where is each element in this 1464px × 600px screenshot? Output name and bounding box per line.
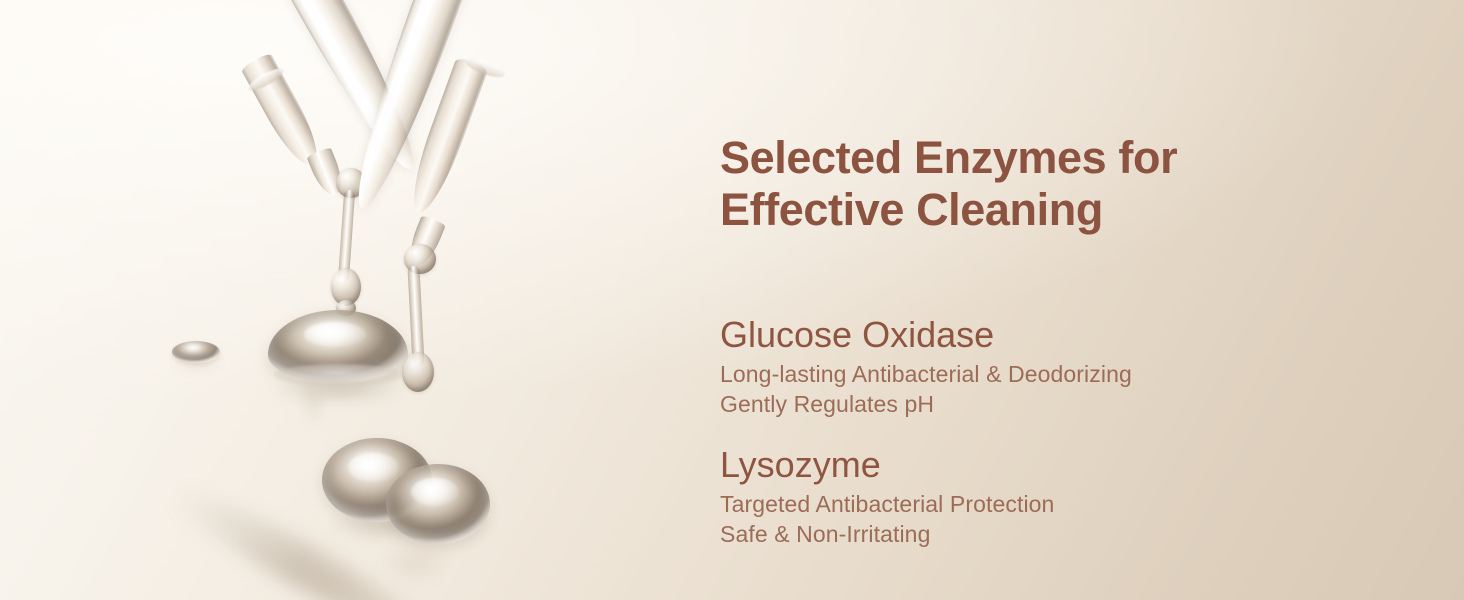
pipette-right	[340, 0, 506, 216]
merged-droplet-right	[386, 464, 490, 544]
dome-droplet-shadow	[268, 378, 408, 404]
feature-title-lysozyme: Lysozyme	[720, 446, 1054, 484]
pipette-left-meniscus	[246, 65, 286, 94]
pipette-right-tip	[404, 215, 446, 269]
small-droplet	[172, 341, 220, 363]
pipette-left-liquid	[240, 52, 328, 173]
feature-glucose-oxidase: Glucose Oxidase Long-lasting Antibacteri…	[720, 316, 1132, 420]
falling-droplet-left	[331, 268, 361, 306]
merged-droplets-reflection	[380, 538, 450, 586]
surface-shadow-streak	[159, 473, 443, 600]
pipette-right-meniscus	[463, 55, 507, 81]
pipette-left-tip-bead	[336, 168, 366, 198]
text-content: Selected Enzymes for Effective Cleaning …	[720, 0, 1280, 600]
feature-benefit-line: Gently Regulates pH	[720, 390, 1132, 420]
dome-droplet-rim	[274, 364, 402, 386]
page-title: Selected Enzymes for Effective Cleaning	[720, 132, 1177, 236]
liquid-strand-left	[338, 190, 355, 283]
feature-benefit-line: Targeted Antibacterial Protection	[720, 490, 1054, 520]
merged-droplet-left	[322, 438, 432, 522]
liquid-strand-right	[407, 266, 424, 366]
feature-benefit-line: Long-lasting Antibacterial & Deodorizing	[720, 360, 1132, 390]
feature-lysozyme: Lysozyme Targeted Antibacterial Protecti…	[720, 446, 1054, 550]
feature-title-glucose-oxidase: Glucose Oxidase	[720, 316, 1132, 354]
falling-droplet-left-lower	[336, 300, 356, 316]
dome-droplet-reflection	[300, 384, 326, 426]
merged-droplets-shadow	[322, 512, 492, 542]
pipette-left	[231, 0, 431, 180]
product-feature-banner: Selected Enzymes for Effective Cleaning …	[0, 0, 1464, 600]
small-droplet-shadow	[170, 358, 224, 370]
pipette-left-tip	[306, 147, 347, 199]
pipette-right-liquid	[402, 56, 489, 218]
falling-droplet-right	[402, 352, 434, 392]
surface-shadow-streak-secondary	[223, 522, 442, 600]
pipette-right-tip-bead	[404, 244, 436, 274]
dome-droplet	[268, 310, 408, 382]
feature-benefit-line: Safe & Non-Irritating	[720, 520, 1054, 550]
